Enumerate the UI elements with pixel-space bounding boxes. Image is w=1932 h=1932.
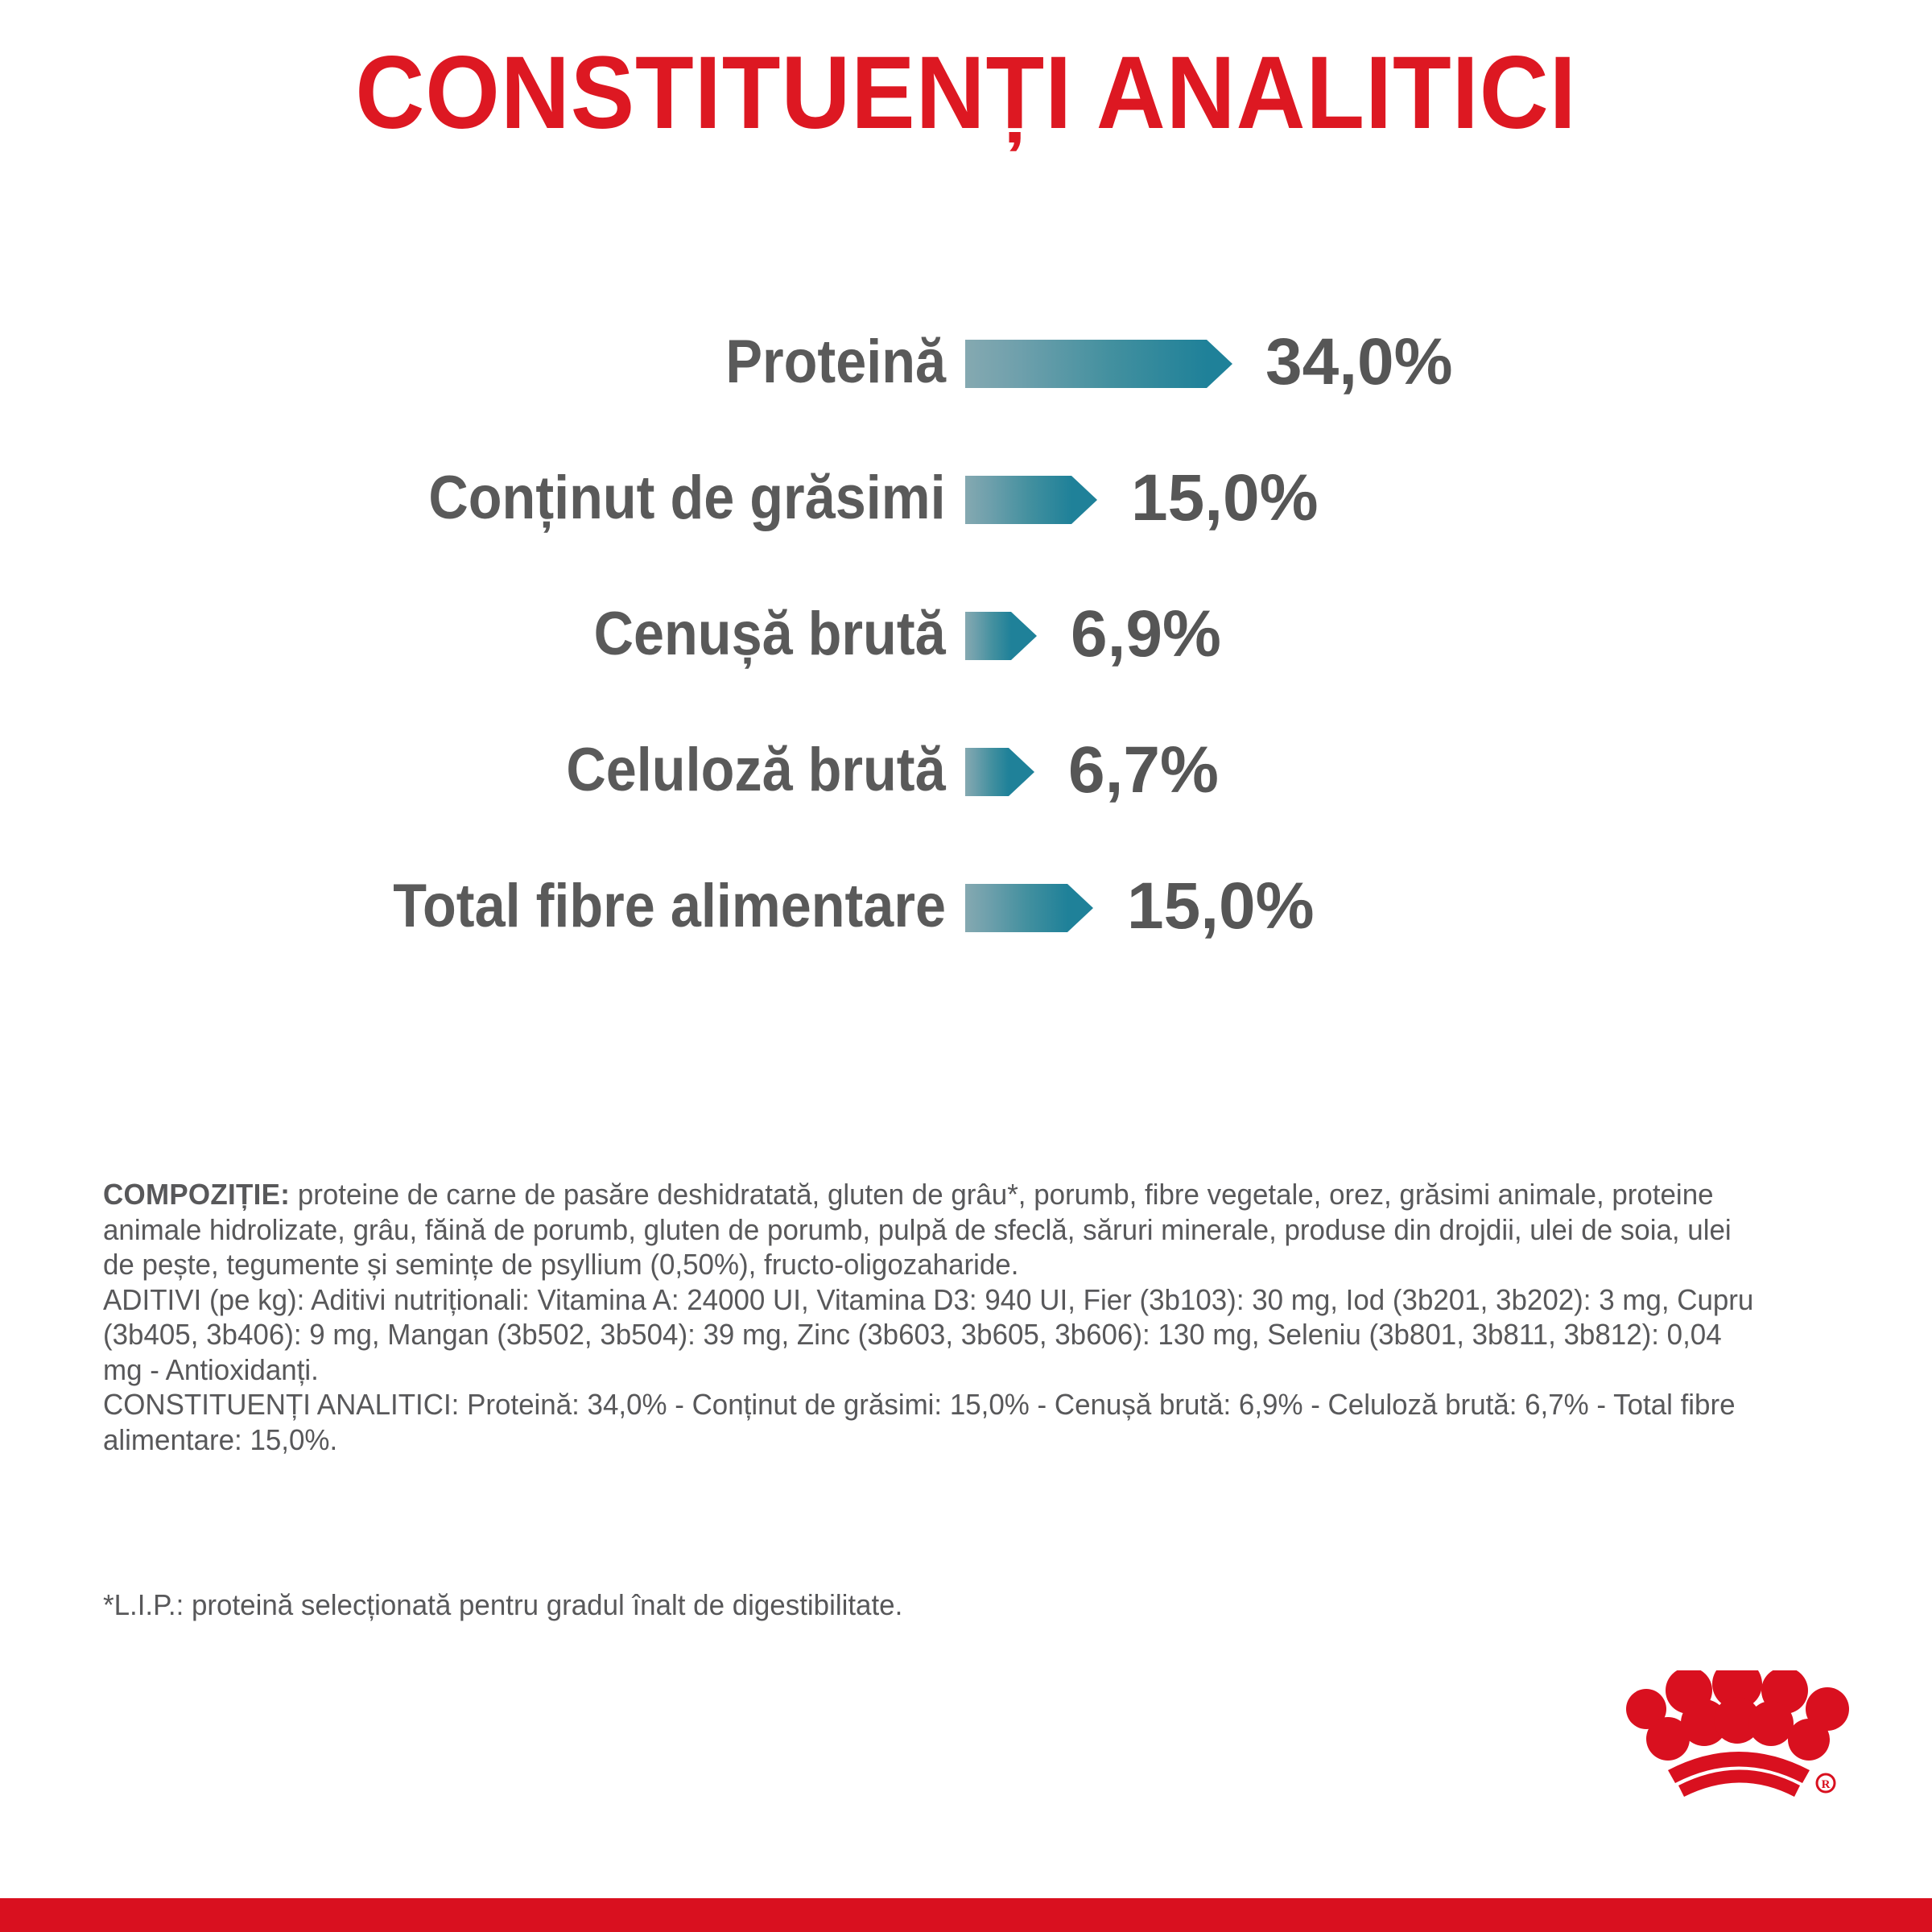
nutrient-label-crude-ash: Cenușă brută [594,592,946,681]
nutrition-row: Celuloză brută 6,7% [0,729,1932,817]
composition-block: COMPOZIȚIE: proteine de carne de pasăre … [103,1177,1766,1457]
nutrient-bar-crude-fibre [965,748,1009,796]
nutrient-label-crude-fibre: Celuloză brută [567,729,946,817]
composition-analytical-constituents: CONSTITUENȚI ANALITICI: Proteină: 34,0% … [103,1387,1766,1457]
nutrition-row: Conținut de grăsimi 15,0% [0,456,1932,545]
nutrient-bar-total-dietary-fibre [965,884,1067,932]
nutrient-value-crude-fibre: 6,7% [1068,729,1219,817]
analytical-constituents-chart: Proteină 34,0% Conținut de grăsimi 15,0%… [0,320,1932,1001]
svg-text:R: R [1822,1778,1831,1791]
lip-footnote: *L.I.P.: proteină selecționată pentru gr… [103,1587,902,1623]
composition-additives: ADITIVI (pe kg): Aditivi nutriționali: V… [103,1282,1766,1388]
nutrient-bar-fat-content [965,476,1071,524]
page-title: CONSTITUENȚI ANALITICI [68,42,1864,145]
royal-canin-crown-logo: R [1618,1670,1884,1843]
composition-heading: COMPOZIȚIE: [103,1178,290,1211]
nutrient-label-protein: Proteină [725,320,946,409]
composition-ingredients: proteine de carne de pasăre deshidratată… [103,1178,1732,1281]
nutrition-row: Cenușă brută 6,9% [0,592,1932,681]
nutrient-value-protein: 34,0% [1265,320,1453,409]
nutrient-bar-crude-ash [965,612,1011,660]
nutrient-value-crude-ash: 6,9% [1071,592,1221,681]
nutrient-label-fat-content: Conținut de grăsimi [429,456,946,545]
composition-ingredients-paragraph: COMPOZIȚIE: proteine de carne de pasăre … [103,1177,1766,1282]
nutrition-row: Proteină 34,0% [0,320,1932,409]
bottom-red-band [0,1898,1932,1932]
nutrition-row: Total fibre alimentare 15,0% [0,865,1932,953]
nutrient-value-total-dietary-fibre: 15,0% [1127,865,1315,953]
nutrient-value-fat-content: 15,0% [1131,456,1319,545]
nutrient-bar-protein [965,340,1207,388]
nutrient-label-total-dietary-fibre: Total fibre alimentare [393,865,946,953]
registered-trademark-icon: R [1817,1774,1835,1792]
